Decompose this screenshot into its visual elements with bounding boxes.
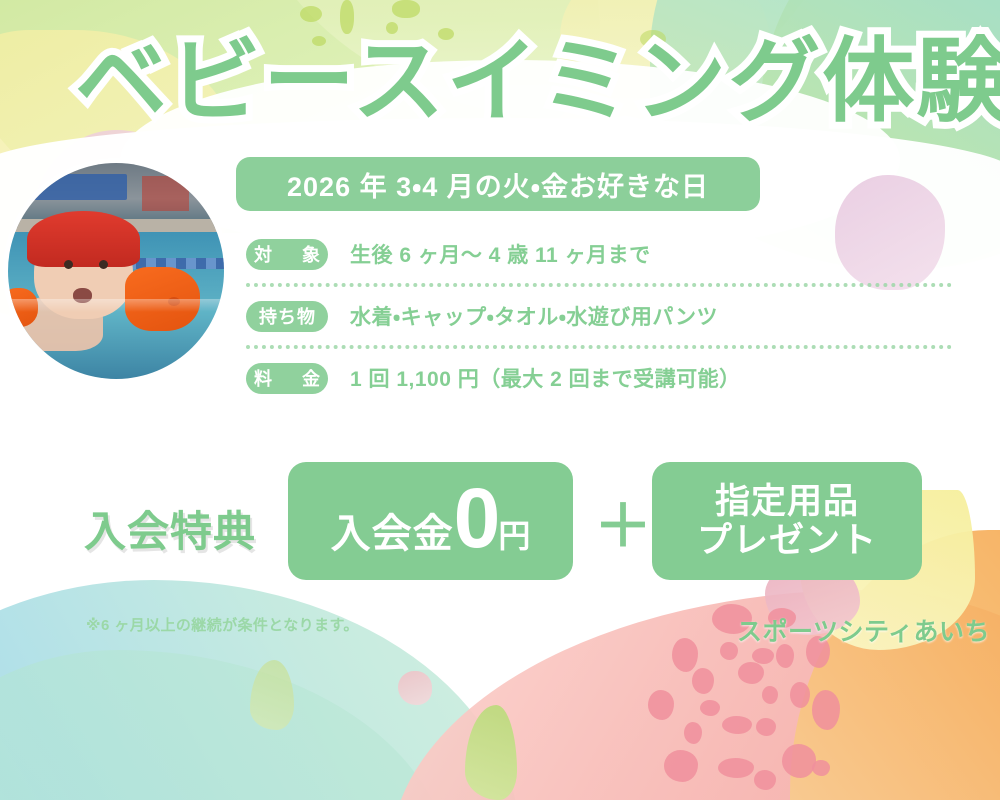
info-label-target: 対 象: [246, 239, 328, 270]
baby-swimming-photo: [8, 163, 224, 379]
date-banner: 2026 年 3・4 月の火・金お好きな日: [236, 157, 760, 211]
info-value-target: 生後 6 ヶ月〜 4 歳 11 ヶ月まで: [350, 239, 651, 269]
brand-name: スポーツシティあいち: [737, 612, 990, 648]
info-table: 対 象 生後 6 ヶ月〜 4 歳 11 ヶ月まで 持ち物 水着・キャップ・タオル…: [246, 232, 946, 400]
benefit-heading: 入会特典: [84, 498, 256, 559]
dotted-separator: [246, 283, 952, 287]
condition-note: ※6 ヶ月以上の継続が条件となります。: [86, 614, 359, 635]
info-label-items: 持ち物: [246, 301, 328, 332]
info-row-items: 持ち物 水着・キャップ・タオル・水遊び用パンツ: [246, 294, 946, 338]
info-value-fee: 1 回 1,100 円（最大 2 回まで受講可能）: [350, 363, 741, 393]
fee-amount-text: 0: [454, 484, 499, 553]
poster-root: ベビースイミング体験 2026 年 3・4 月の火・金お好きな日 対 象: [0, 0, 1000, 800]
fee-prefix-text: 入会金: [331, 501, 454, 559]
plus-icon: ＋: [594, 498, 652, 556]
date-banner-text: 2026 年 3・4 月の火・金お好きな日: [287, 165, 709, 204]
poster-content: ベビースイミング体験 2026 年 3・4 月の火・金お好きな日 対 象: [0, 0, 1000, 800]
info-row-fee: 料 金 1 回 1,100 円（最大 2 回まで受講可能）: [246, 356, 946, 400]
dotted-separator: [246, 345, 952, 349]
page-title: ベビースイミング体験: [75, 36, 1000, 128]
gift-line-1: 指定用品: [715, 482, 859, 521]
info-value-items: 水着・キャップ・タオル・水遊び用パンツ: [350, 301, 718, 331]
info-label-fee: 料 金: [246, 363, 328, 394]
fee-unit-text: 円: [498, 511, 530, 557]
gift-line-2: プレゼント: [697, 521, 877, 560]
info-row-target: 対 象 生後 6 ヶ月〜 4 歳 11 ヶ月まで: [246, 232, 946, 276]
benefit-box-gift: 指定用品 プレゼント: [652, 462, 922, 580]
benefit-box-enrollment-fee: 入会金 0 円: [288, 462, 573, 580]
